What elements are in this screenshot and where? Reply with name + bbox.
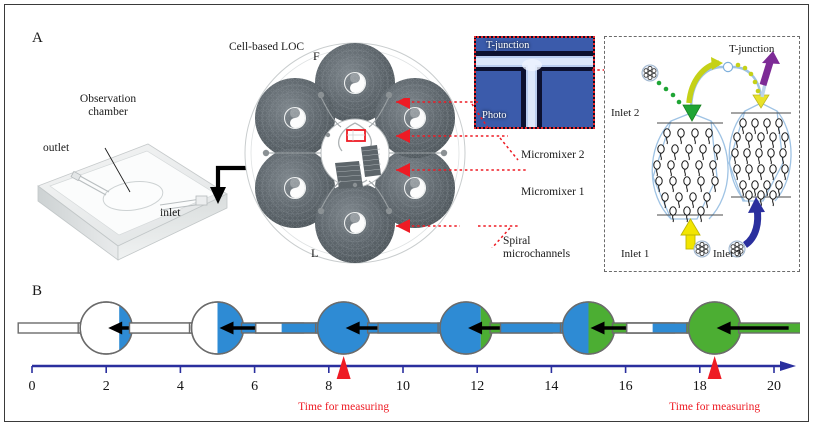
callout-label-micromixer-1: Micromixer 1 — [521, 186, 585, 199]
loc-disc-marker-l: L — [311, 247, 318, 261]
spiral-label-line2: microchannels — [503, 248, 570, 260]
schematic-mixer-right — [729, 103, 791, 206]
schematic-arrow-inlet-3 — [745, 197, 765, 245]
measuring-marker-label-1: Time for measuring — [669, 401, 760, 413]
chamber-5 — [627, 302, 800, 354]
label-observation-chamber: Observation chamber — [62, 93, 154, 119]
label-observation-chamber-line2: chamber — [88, 106, 128, 118]
axis-tick-label-20: 20 — [767, 379, 781, 394]
measuring-marker-0 — [337, 356, 351, 379]
axis-tick-label-14: 14 — [544, 379, 558, 394]
label-observation-chamber-line1: Observation — [80, 93, 136, 105]
axis-tick-label-12: 12 — [470, 379, 484, 394]
figure-root: A B — [0, 0, 815, 428]
measuring-marker-label-0: Time for measuring — [298, 401, 389, 413]
panel-letter-a: A — [32, 30, 43, 47]
panel-b-timeline: 02468101214161820Time for measuringTime … — [14, 288, 800, 416]
schematic-label-inlet-1: Inlet 1 — [621, 248, 649, 260]
timeline-axis — [32, 361, 796, 373]
schematic-label-inlet-3: Inlet 3 — [713, 248, 741, 260]
axis-tick-label-8: 8 — [325, 379, 332, 394]
inlet-port — [196, 196, 207, 205]
t-junction-photo-inset: T-junction Photo — [474, 36, 595, 129]
axis-tick-label-10: 10 — [396, 379, 410, 394]
schematic-cluster-inlet-1 — [694, 241, 710, 257]
loc-disc-marker-f: F — [313, 50, 320, 64]
schematic-arrow-t-junction — [762, 51, 780, 85]
schematic-label-inlet-2: Inlet 2 — [611, 107, 639, 119]
t-junction-photo-title: T-junction — [486, 40, 529, 51]
axis-tick-label-18: 18 — [693, 379, 707, 394]
axis-tick-label-16: 16 — [619, 379, 633, 394]
spiral-label-line1: Spiral — [503, 235, 530, 247]
axis-tick-label-2: 2 — [103, 379, 110, 394]
axis-tick-label-0: 0 — [29, 379, 36, 394]
micromixer-1-shape — [335, 161, 363, 189]
label-outlet: outlet — [43, 142, 69, 155]
t-junction-highlight-box — [347, 130, 365, 141]
micromixer-schematic: Inlet 2 Inlet 1 Inlet 3 T-junction — [604, 36, 800, 272]
callout-label-spiral-microchannels: Spiral microchannels — [503, 235, 570, 261]
schematic-mixer-left — [652, 113, 728, 222]
schematic-cluster-inlet-2 — [642, 65, 658, 81]
schematic-label-t-junction: T-junction — [729, 43, 774, 55]
schematic-junction-node — [723, 62, 732, 71]
measuring-marker-1 — [708, 356, 722, 379]
axis-tick-label-4: 4 — [177, 379, 184, 394]
axis-tick-label-6: 6 — [251, 379, 258, 394]
loc-device — [243, 35, 468, 275]
t-junction-photo-caption: Photo — [482, 110, 507, 121]
schematic-inlet-2-path — [657, 81, 682, 105]
label-inlet: inlet — [160, 207, 180, 220]
callout-label-micromixer-2: Micromixer 2 — [521, 149, 585, 162]
